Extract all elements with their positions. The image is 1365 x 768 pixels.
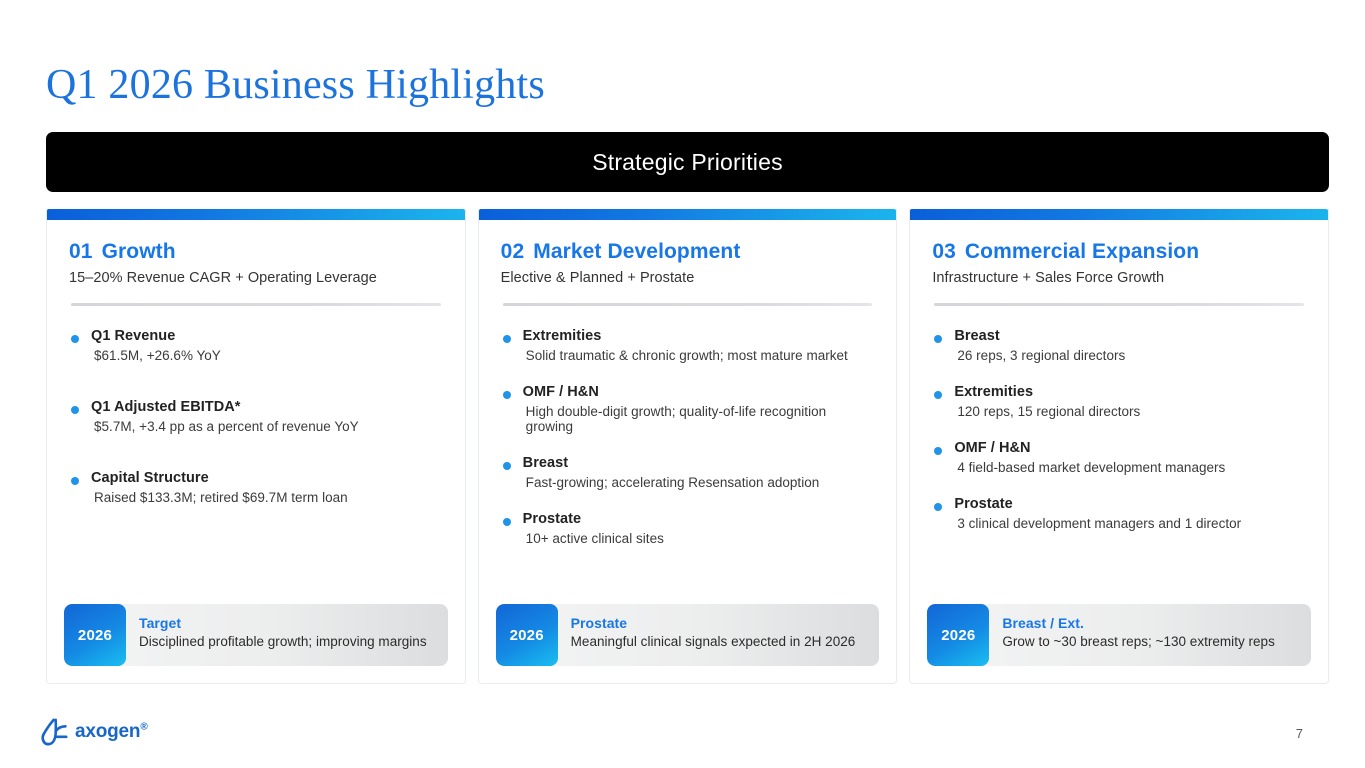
card-subtitle: Elective & Planned + Prostate xyxy=(501,270,875,286)
card-number: 01 xyxy=(69,240,93,263)
list-item: OMF / H&N 4 field-based market developme… xyxy=(934,440,1306,475)
list-item-title: Q1 Revenue xyxy=(91,328,443,344)
slide-canvas: Q1 2026 Business Highlights Strategic Pr… xyxy=(0,0,1365,768)
card-subtitle: 15–20% Revenue CAGR + Operating Leverage xyxy=(69,270,443,286)
card-bullet-list: Breast 26 reps, 3 regional directors Ext… xyxy=(932,328,1306,531)
list-item-title: OMF / H&N xyxy=(954,440,1306,456)
list-item: Q1 Adjusted EBITDA* $5.7M, +3.4 pp as a … xyxy=(71,399,443,434)
footer-text: Prostate Meaningful clinical signals exp… xyxy=(558,604,868,666)
list-item-desc: Fast-growing; accelerating Resensation a… xyxy=(526,475,875,490)
list-item: Prostate 3 clinical development managers… xyxy=(934,496,1306,531)
page-number: 7 xyxy=(1296,726,1303,741)
list-item: Prostate 10+ active clinical sites xyxy=(503,511,875,546)
footer-title: Breast / Ext. xyxy=(1002,615,1275,631)
axogen-logo: axogen® xyxy=(32,715,148,749)
card-divider xyxy=(503,303,873,306)
card-heading: 03Commercial Expansion xyxy=(932,240,1306,264)
priority-card-growth[interactable]: 01Growth 15–20% Revenue CAGR + Operating… xyxy=(46,209,466,684)
strategic-priorities-banner: Strategic Priorities xyxy=(46,132,1329,192)
card-title: Market Development xyxy=(533,240,740,263)
card-bullet-list: Q1 Revenue $61.5M, +26.6% YoY Q1 Adjuste… xyxy=(69,328,443,505)
card-divider xyxy=(71,303,441,306)
bullet-dot-icon xyxy=(934,447,942,455)
list-item-desc: $61.5M, +26.6% YoY xyxy=(94,348,443,363)
priority-card-market-development[interactable]: 02Market Development Elective & Planned … xyxy=(478,209,898,684)
list-item-desc: 4 field-based market development manager… xyxy=(957,460,1306,475)
year-chip: 2026 xyxy=(64,604,126,666)
card-title: Commercial Expansion xyxy=(965,240,1199,263)
footer-title: Prostate xyxy=(571,615,856,631)
card-footer-badge: 2026 Breast / Ext. Grow to ~30 breast re… xyxy=(927,604,1311,666)
card-footer-badge: 2026 Prostate Meaningful clinical signal… xyxy=(496,604,880,666)
list-item: Breast Fast-growing; accelerating Resens… xyxy=(503,455,875,490)
list-item-desc: 120 reps, 15 regional directors xyxy=(957,404,1306,419)
card-body: 01Growth 15–20% Revenue CAGR + Operating… xyxy=(47,220,465,604)
priority-card-commercial-expansion[interactable]: 03Commercial Expansion Infrastructure + … xyxy=(909,209,1329,684)
list-item-desc: 26 reps, 3 regional directors xyxy=(957,348,1306,363)
banner-label: Strategic Priorities xyxy=(592,149,783,176)
card-title: Growth xyxy=(102,240,176,263)
list-item: Breast 26 reps, 3 regional directors xyxy=(934,328,1306,363)
footer-text: Breast / Ext. Grow to ~30 breast reps; ~… xyxy=(989,604,1287,666)
list-item: Extremities Solid traumatic & chronic gr… xyxy=(503,328,875,363)
card-accent-bar xyxy=(47,209,465,220)
list-item-title: Breast xyxy=(954,328,1306,344)
axogen-mark-icon xyxy=(32,715,68,749)
bullet-dot-icon xyxy=(503,335,511,343)
card-heading: 02Market Development xyxy=(501,240,875,264)
list-item-title: Extremities xyxy=(954,384,1306,400)
bullet-dot-icon xyxy=(934,503,942,511)
card-divider xyxy=(934,303,1304,306)
footer-desc: Meaningful clinical signals expected in … xyxy=(571,634,856,649)
bullet-dot-icon xyxy=(71,335,79,343)
list-item-title: Q1 Adjusted EBITDA* xyxy=(91,399,443,415)
list-item-desc: $5.7M, +3.4 pp as a percent of revenue Y… xyxy=(94,419,443,434)
bullet-dot-icon xyxy=(71,477,79,485)
card-body: 03Commercial Expansion Infrastructure + … xyxy=(910,220,1328,604)
bullet-dot-icon xyxy=(503,391,511,399)
footer-text: Target Disciplined profitable growth; im… xyxy=(126,604,439,666)
list-item-desc: 3 clinical development managers and 1 di… xyxy=(957,516,1306,531)
footer-title: Target xyxy=(139,615,427,631)
list-item: Q1 Revenue $61.5M, +26.6% YoY xyxy=(71,328,443,363)
page-title: Q1 2026 Business Highlights xyxy=(46,58,545,112)
bullet-dot-icon xyxy=(503,518,511,526)
list-item-title: Prostate xyxy=(954,496,1306,512)
year-chip: 2026 xyxy=(496,604,558,666)
card-body: 02Market Development Elective & Planned … xyxy=(479,220,897,604)
card-bullet-list: Extremities Solid traumatic & chronic gr… xyxy=(501,328,875,546)
list-item: Capital Structure Raised $133.3M; retire… xyxy=(71,470,443,505)
card-footer-badge: 2026 Target Disciplined profitable growt… xyxy=(64,604,448,666)
registered-mark: ® xyxy=(140,722,147,733)
list-item-title: OMF / H&N xyxy=(523,384,875,400)
list-item: Extremities 120 reps, 15 regional direct… xyxy=(934,384,1306,419)
bullet-dot-icon xyxy=(934,391,942,399)
year-chip: 2026 xyxy=(927,604,989,666)
card-accent-bar xyxy=(910,209,1328,220)
list-item-title: Prostate xyxy=(523,511,875,527)
list-item-title: Breast xyxy=(523,455,875,471)
card-number: 02 xyxy=(501,240,525,263)
list-item-title: Capital Structure xyxy=(91,470,443,486)
footer-desc: Disciplined profitable growth; improving… xyxy=(139,634,427,649)
bullet-dot-icon xyxy=(503,462,511,470)
list-item-desc: 10+ active clinical sites xyxy=(526,531,875,546)
card-number: 03 xyxy=(932,240,956,263)
bullet-dot-icon xyxy=(934,335,942,343)
bullet-dot-icon xyxy=(71,406,79,414)
card-subtitle: Infrastructure + Sales Force Growth xyxy=(932,270,1306,286)
card-heading: 01Growth xyxy=(69,240,443,264)
footer-desc: Grow to ~30 breast reps; ~130 extremity … xyxy=(1002,634,1275,649)
list-item: OMF / H&N High double-digit growth; qual… xyxy=(503,384,875,434)
card-accent-bar xyxy=(479,209,897,220)
list-item-desc: Solid traumatic & chronic growth; most m… xyxy=(526,348,875,363)
list-item-desc: High double-digit growth; quality-of-lif… xyxy=(526,404,875,434)
list-item-title: Extremities xyxy=(523,328,875,344)
priority-cards-row: 01Growth 15–20% Revenue CAGR + Operating… xyxy=(46,209,1329,684)
list-item-desc: Raised $133.3M; retired $69.7M term loan xyxy=(94,490,443,505)
axogen-wordmark: axogen® xyxy=(75,721,148,743)
